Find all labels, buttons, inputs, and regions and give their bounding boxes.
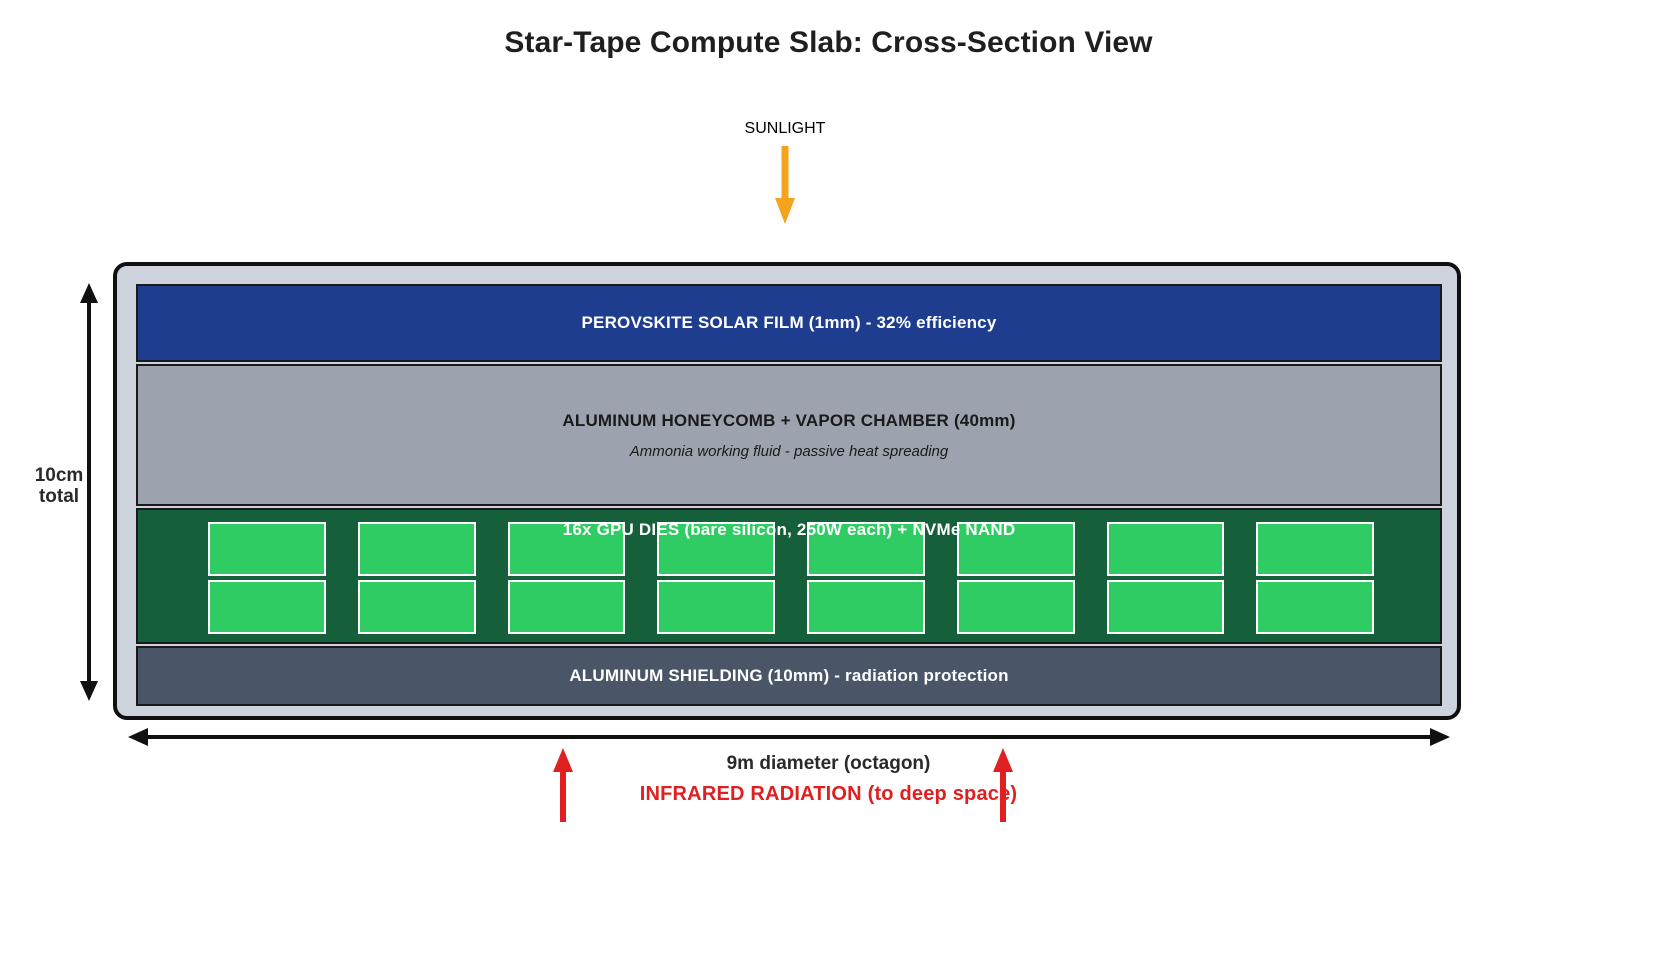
layer-honeycomb-title: ALUMINUM HONEYCOMB + VAPOR CHAMBER (40mm…: [562, 411, 1015, 431]
sunlight-label: SUNLIGHT: [705, 120, 865, 138]
layer-gpu-title: 16x GPU DIES (bare silicon, 250W each) +…: [138, 520, 1440, 540]
gpu-die[interactable]: [807, 580, 925, 634]
layer-solar-title: PEROVSKITE SOLAR FILM (1mm) - 32% effici…: [582, 313, 997, 333]
layer-aluminum-shielding[interactable]: ALUMINUM SHIELDING (10mm) - radiation pr…: [136, 646, 1442, 706]
layer-aluminum-honeycomb-vapor-chamber[interactable]: ALUMINUM HONEYCOMB + VAPOR CHAMBER (40mm…: [136, 364, 1442, 506]
layer-gpu-dies[interactable]: 16x GPU DIES (bare silicon, 250W each) +…: [136, 508, 1442, 644]
height-dimension-unit: total: [20, 486, 98, 507]
width-dimension-arrow: [128, 728, 1450, 746]
arrow-down-icon: [773, 146, 797, 226]
width-dimension-label: 9m diameter (octagon): [0, 753, 1657, 775]
gpu-die[interactable]: [1107, 580, 1225, 634]
height-dimension-value: 10cm: [20, 465, 98, 486]
layer-shield-title: ALUMINUM SHIELDING (10mm) - radiation pr…: [569, 666, 1008, 686]
gpu-die[interactable]: [657, 580, 775, 634]
layer-honeycomb-subtitle: Ammonia working fluid - passive heat spr…: [630, 443, 949, 460]
gpu-die[interactable]: [957, 580, 1075, 634]
gpu-die[interactable]: [508, 580, 626, 634]
gpu-die[interactable]: [1256, 580, 1374, 634]
gpu-die[interactable]: [358, 580, 476, 634]
gpu-die[interactable]: [208, 580, 326, 634]
height-dimension-label: 10cm total: [20, 465, 98, 508]
compute-slab-cross-section: PEROVSKITE SOLAR FILM (1mm) - 32% effici…: [113, 262, 1461, 720]
infrared-radiation-label: INFRARED RADIATION (to deep space): [0, 783, 1657, 806]
sunlight-annotation: SUNLIGHT: [705, 120, 865, 226]
layer-perovskite-solar-film[interactable]: PEROVSKITE SOLAR FILM (1mm) - 32% effici…: [136, 284, 1442, 362]
page-title: Star-Tape Compute Slab: Cross-Section Vi…: [0, 26, 1657, 60]
